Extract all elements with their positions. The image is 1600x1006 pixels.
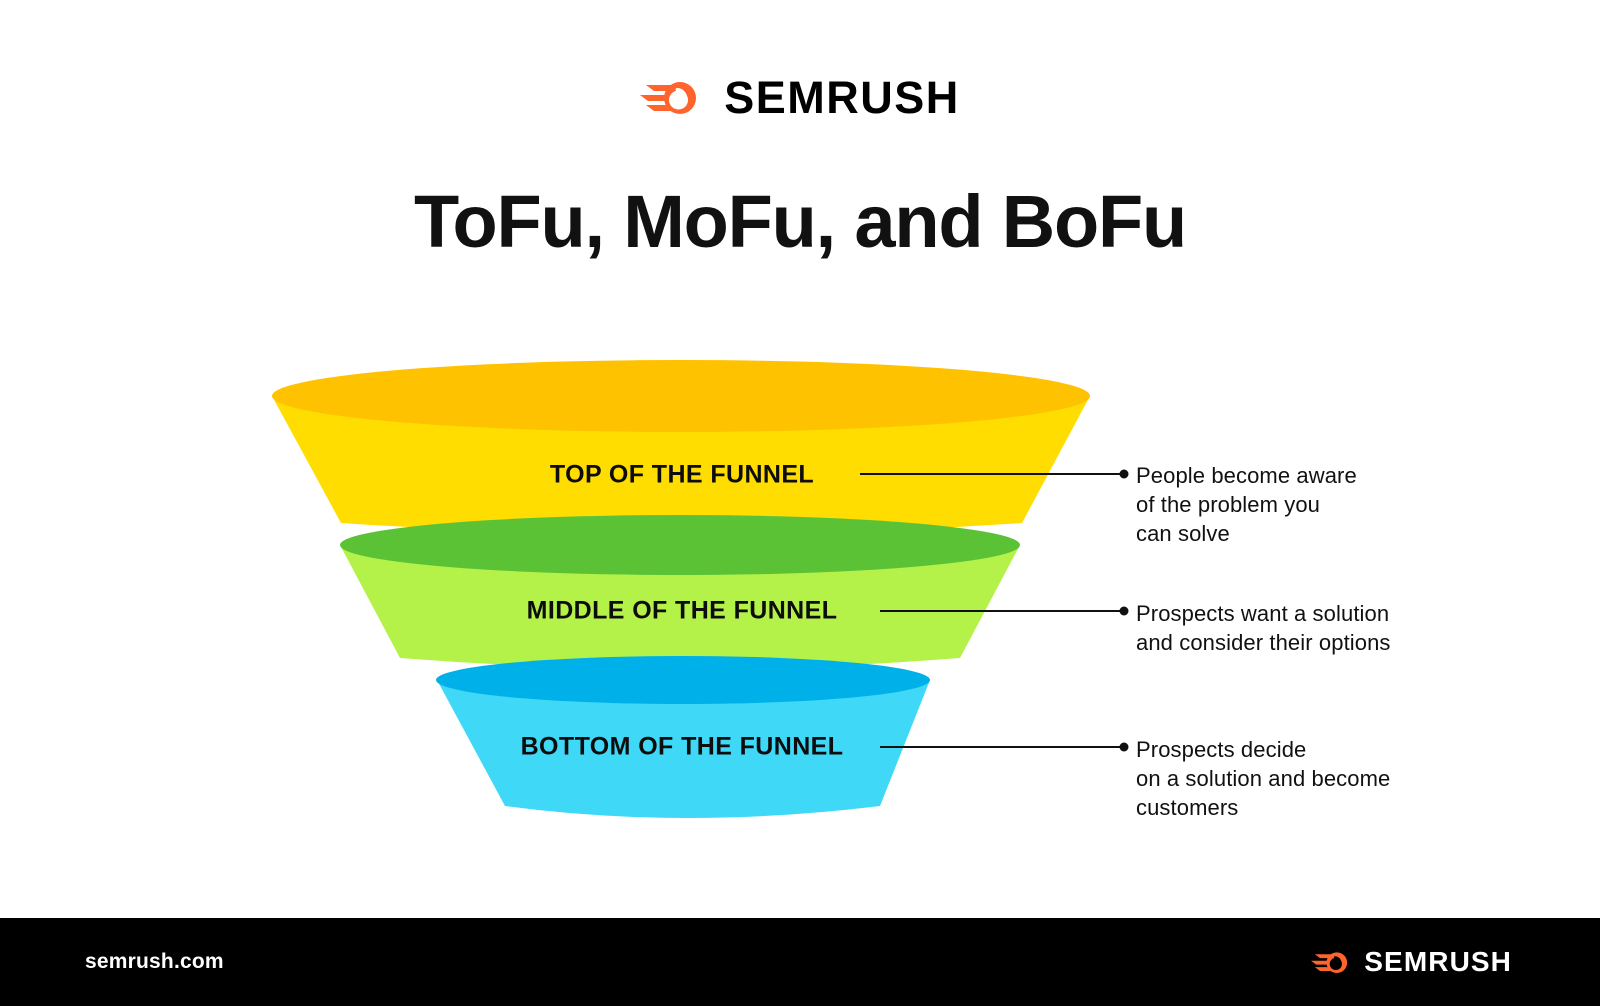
- footer-wordmark: SEMRUSH: [1364, 948, 1512, 976]
- funnel-stage-mofu: [340, 515, 1020, 669]
- bofu-rim: [436, 656, 930, 704]
- funnel-label-bofu: BOTTOM OF THE FUNNEL: [521, 733, 844, 762]
- mofu-rim: [340, 515, 1020, 575]
- infographic-canvas: SEMRUSH ToFu, MoFu, and BoFu: [0, 0, 1600, 1006]
- leader-dot-tofu: [1120, 470, 1129, 479]
- header-wordmark: SEMRUSH: [724, 75, 960, 120]
- footer-logo: SEMRUSH: [1311, 947, 1512, 977]
- funnel-label-tofu: TOP OF THE FUNNEL: [550, 461, 814, 490]
- annotation-bofu: Prospects decide on a solution and becom…: [1136, 735, 1390, 822]
- page-title: ToFu, MoFu, and BoFu: [0, 183, 1600, 261]
- leader-dot-bofu: [1120, 743, 1129, 752]
- header-logo: SEMRUSH: [0, 74, 1600, 120]
- funnel-stage-tofu: [272, 360, 1090, 535]
- annotation-tofu: People become aware of the problem you c…: [1136, 461, 1357, 548]
- leader-dot-mofu: [1120, 607, 1129, 616]
- funnel-label-mofu: MIDDLE OF THE FUNNEL: [527, 597, 838, 626]
- footer-url: semrush.com: [85, 950, 224, 974]
- tofu-rim: [272, 360, 1090, 432]
- semrush-comet-icon: [1311, 947, 1351, 977]
- annotation-mofu: Prospects want a solution and consider t…: [1136, 599, 1391, 657]
- leader-lines: [860, 470, 1129, 752]
- semrush-comet-icon: [640, 74, 702, 120]
- footer-bar: semrush.com SEMRUSH: [0, 918, 1600, 1006]
- funnel-diagram: [0, 0, 1600, 1006]
